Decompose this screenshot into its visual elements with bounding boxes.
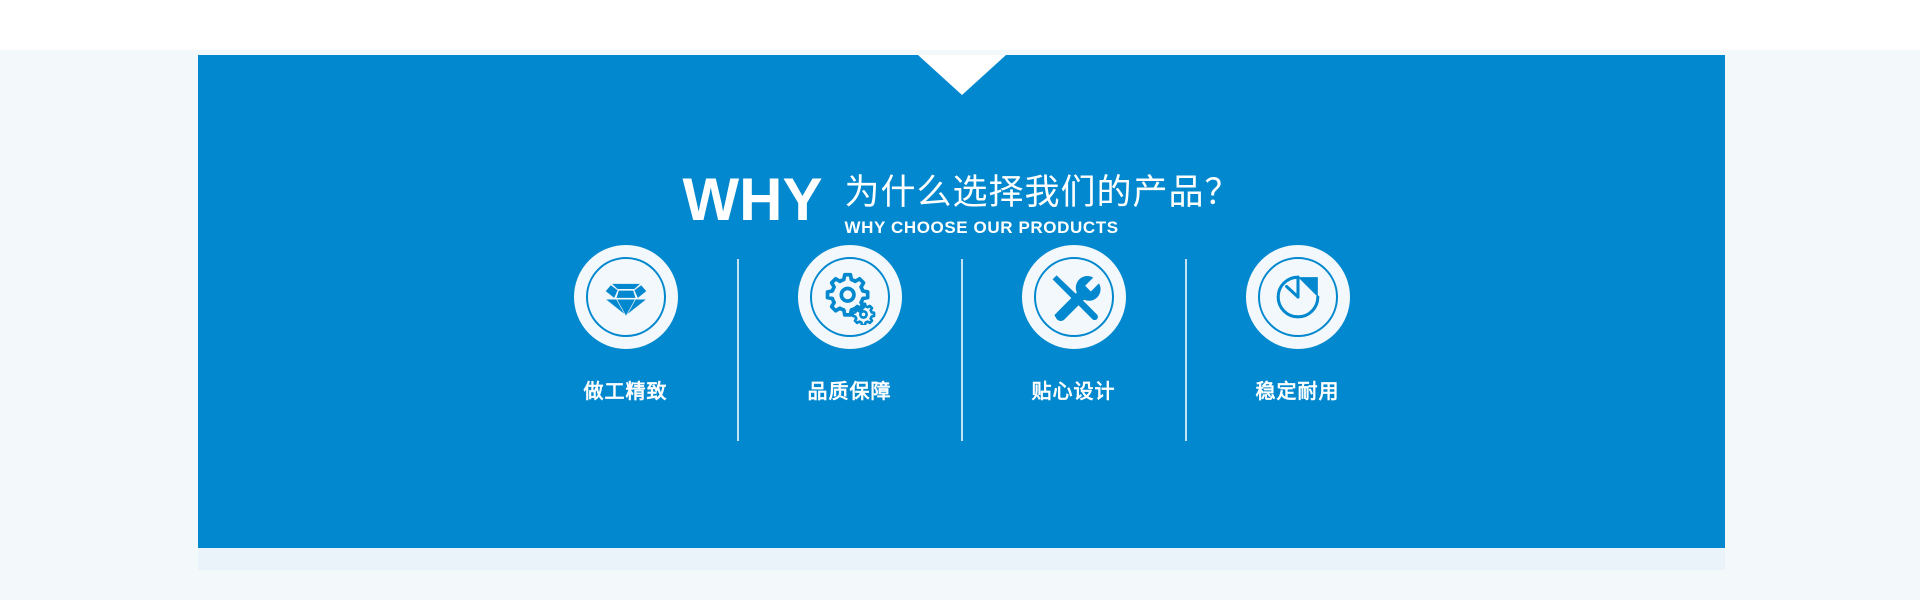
feature-item-quality[interactable]: 品质保障 xyxy=(739,245,961,404)
wrench-screwdriver-icon xyxy=(1045,268,1103,326)
feature-divider xyxy=(737,259,739,441)
section-heading: WHY 为什么选择我们的产品？ WHY CHOOSE OUR PRODUCTS xyxy=(198,170,1725,239)
feature-divider xyxy=(961,259,963,441)
feature-divider xyxy=(1185,259,1187,441)
heading-title-chinese: 为什么选择我们的产品？ xyxy=(844,172,1240,214)
panel-shadow-band xyxy=(198,548,1725,570)
why-choose-us-banner: WHY 为什么选择我们的产品？ WHY CHOOSE OUR PRODUCTS xyxy=(0,0,1920,600)
diamond-icon xyxy=(599,270,653,324)
feature-icon-circle xyxy=(798,245,902,349)
feature-icon-circle xyxy=(1022,245,1126,349)
stopwatch-icon xyxy=(1271,270,1325,324)
heading-inner: WHY 为什么选择我们的产品？ WHY CHOOSE OUR PRODUCTS xyxy=(683,170,1241,239)
gears-icon xyxy=(822,269,878,325)
feature-icon-circle xyxy=(574,245,678,349)
feature-label: 品质保障 xyxy=(808,375,892,404)
feature-item-durability[interactable]: 稳定耐用 xyxy=(1187,245,1409,404)
feature-label: 贴心设计 xyxy=(1032,375,1116,404)
top-notch-triangle xyxy=(918,55,1006,95)
feature-label: 稳定耐用 xyxy=(1256,375,1340,404)
feature-label: 做工精致 xyxy=(584,375,668,404)
feature-item-design[interactable]: 贴心设计 xyxy=(963,245,1185,404)
blue-feature-panel: WHY 为什么选择我们的产品？ WHY CHOOSE OUR PRODUCTS xyxy=(198,55,1725,548)
heading-why-word: WHY xyxy=(683,170,823,230)
feature-item-craftsmanship[interactable]: 做工精致 xyxy=(515,245,737,404)
heading-text-block: 为什么选择我们的产品？ WHY CHOOSE OUR PRODUCTS xyxy=(844,170,1240,239)
feature-icon-circle xyxy=(1246,245,1350,349)
heading-subtitle-english: WHY CHOOSE OUR PRODUCTS xyxy=(844,217,1240,239)
feature-list: 做工精致 品质保障 xyxy=(198,245,1725,475)
